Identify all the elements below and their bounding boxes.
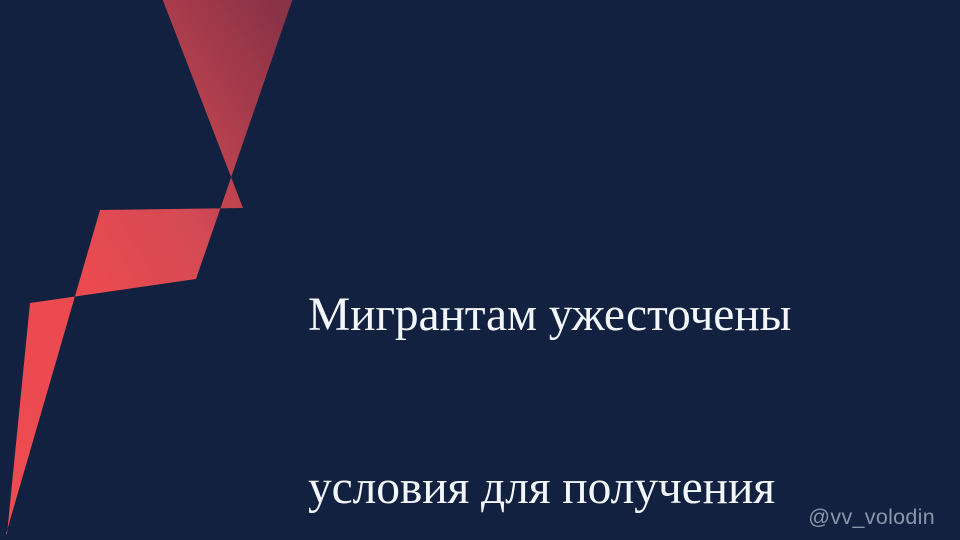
slide-canvas: Мигрантам ужесточены условия для получен… bbox=[0, 0, 960, 540]
bolt-shape bbox=[6, 0, 293, 534]
page-title: Мигрантам ужесточены условия для получен… bbox=[308, 172, 938, 540]
watermark-handle: @vv_volodin bbox=[808, 507, 935, 529]
headline-line-1: Мигрантам ужесточены bbox=[308, 287, 938, 345]
